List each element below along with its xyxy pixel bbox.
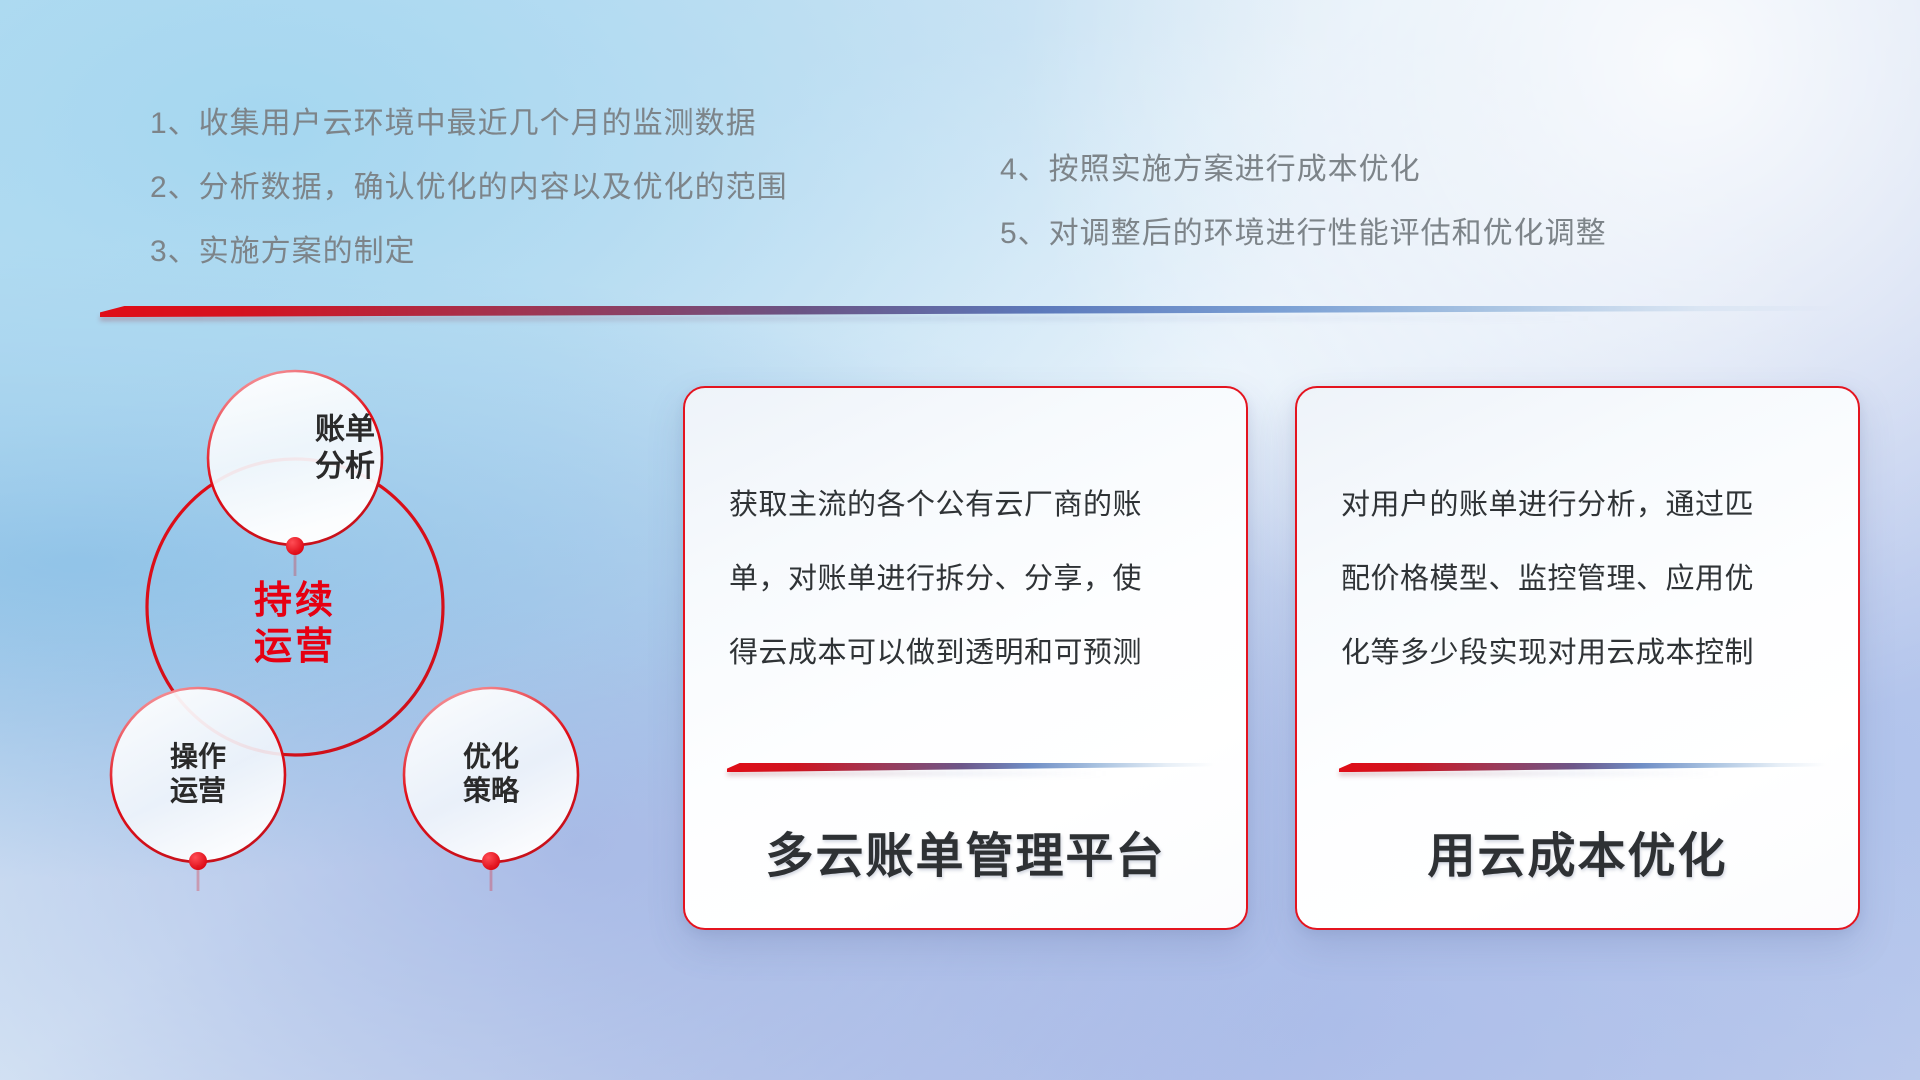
venn-label-br-line1: 优化	[406, 740, 576, 774]
venn-label-top-line1: 账单	[255, 412, 435, 449]
venn-dot-tail	[294, 550, 297, 576]
card-divider	[727, 763, 1215, 775]
venn-label-top-line2: 分析	[255, 449, 435, 486]
bullet-column-left: 1、收集用户云环境中最近几个月的监测数据 2、分析数据，确认优化的内容以及优化的…	[150, 92, 788, 284]
venn-label-top: 账单 分析	[255, 412, 435, 485]
card-title: 多云账单管理平台	[685, 816, 1246, 886]
venn-dot-tail	[490, 865, 493, 891]
card-divider	[1339, 763, 1827, 775]
card-body-line: 配价格模型、监控管理、应用优	[1341, 542, 1821, 616]
venn-label-center: 持续 运营	[200, 578, 390, 671]
card-body-text: 获取主流的各个公有云厂商的账 单，对账单进行拆分、分享，使 得云成本可以做到透明…	[729, 468, 1209, 690]
bullet-item: 2、分析数据，确认优化的内容以及优化的范围	[150, 156, 788, 220]
bullet-item: 1、收集用户云环境中最近几个月的监测数据	[150, 92, 788, 156]
venn-label-bl-line2: 运营	[113, 774, 283, 808]
venn-label-br-line2: 策略	[406, 774, 576, 808]
bullet-column-right: 4、按照实施方案进行成本优化 5、对调整后的环境进行性能评估和优化调整	[1000, 138, 1607, 266]
venn-dot-tail	[197, 865, 200, 891]
card-body-line: 对用户的账单进行分析，通过匹	[1341, 468, 1821, 542]
card-body-text: 对用户的账单进行分析，通过匹 配价格模型、监控管理、应用优 化等多少段实现对用云…	[1341, 468, 1821, 690]
bullet-lists: 1、收集用户云环境中最近几个月的监测数据 2、分析数据，确认优化的内容以及优化的…	[0, 92, 1920, 282]
venn-label-bottom-right: 优化 策略	[406, 740, 576, 808]
card-title: 用云成本优化	[1297, 816, 1858, 886]
card-divider-shadow	[1339, 771, 1720, 776]
header-divider	[100, 306, 1840, 320]
card-body-line: 获取主流的各个公有云厂商的账	[729, 468, 1209, 542]
venn-label-bl-line1: 操作	[113, 740, 283, 774]
venn-diagram: 账单 分析 持续 运营 操作 运营 优化 策略	[95, 350, 625, 950]
bullet-item: 5、对调整后的环境进行性能评估和优化调整	[1000, 202, 1607, 266]
card-divider-shadow	[727, 771, 1108, 776]
venn-label-center-line1: 持续	[200, 578, 390, 624]
bullet-item: 3、实施方案的制定	[150, 220, 788, 284]
card-body-line: 单，对账单进行拆分、分享，使	[729, 542, 1209, 616]
bullet-item: 4、按照实施方案进行成本优化	[1000, 138, 1607, 202]
venn-label-bottom-left: 操作 运营	[113, 740, 283, 808]
feature-card[interactable]: 获取主流的各个公有云厂商的账 单，对账单进行拆分、分享，使 得云成本可以做到透明…	[683, 386, 1248, 930]
card-body-line: 化等多少段实现对用云成本控制	[1341, 616, 1821, 690]
venn-label-center-line2: 运营	[200, 624, 390, 670]
card-body-line: 得云成本可以做到透明和可预测	[729, 616, 1209, 690]
feature-card[interactable]: 对用户的账单进行分析，通过匹 配价格模型、监控管理、应用优 化等多少段实现对用云…	[1295, 386, 1860, 930]
header-divider-shadow	[100, 316, 1596, 321]
